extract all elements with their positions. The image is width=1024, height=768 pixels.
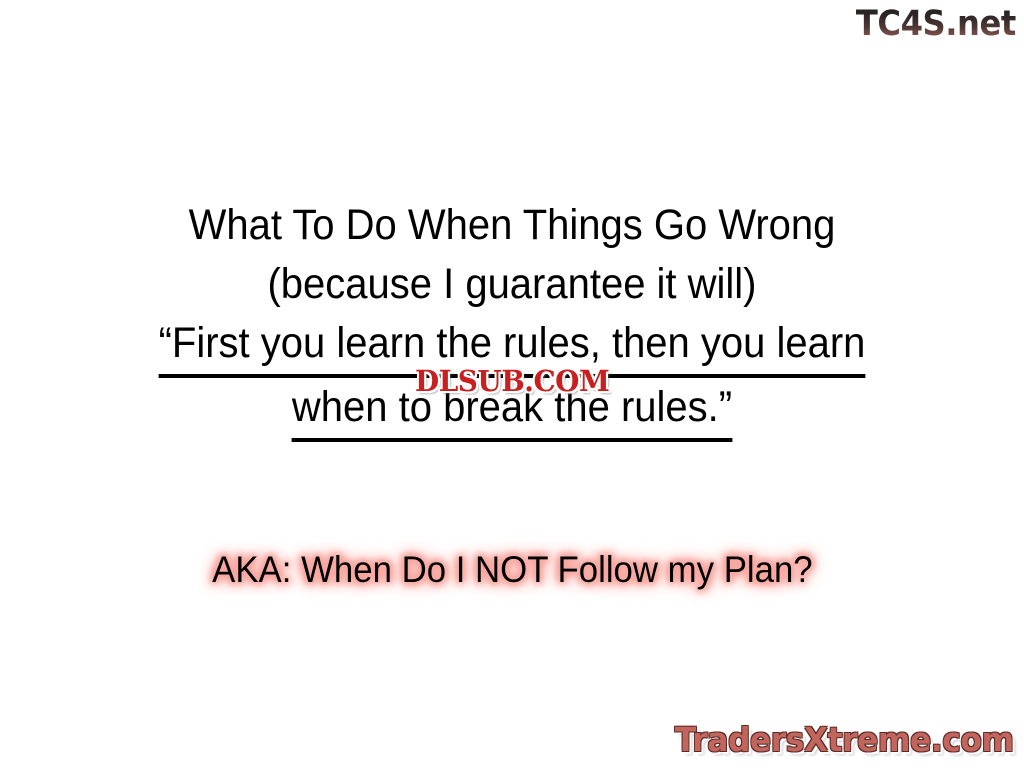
title-line-2: (because I guarantee it will)	[36, 255, 988, 314]
quote-line-2-wrap: when to break the rules.”	[36, 378, 988, 442]
aka-callout-text: AKA: When Do I NOT Follow my Plan?	[212, 546, 812, 594]
slide-title-block: What To Do When Things Go Wrong (because…	[0, 196, 1024, 442]
title-line-1: What To Do When Things Go Wrong	[36, 196, 988, 255]
quote-line-1-wrap: “First you learn the rules, then you lea…	[36, 314, 988, 378]
aka-callout: AKA: When Do I NOT Follow my Plan?	[0, 546, 1024, 594]
tc4s-site-logo: TC4S.net	[856, 2, 1016, 46]
quote-line-1: “First you learn the rules, then you lea…	[159, 314, 866, 378]
tradersxtreme-brand-logo: TradersXtreme.com	[675, 720, 1014, 760]
quote-line-2: when to break the rules.”	[292, 378, 732, 442]
presentation-slide: TC4S.net What To Do When Things Go Wrong…	[0, 0, 1024, 768]
